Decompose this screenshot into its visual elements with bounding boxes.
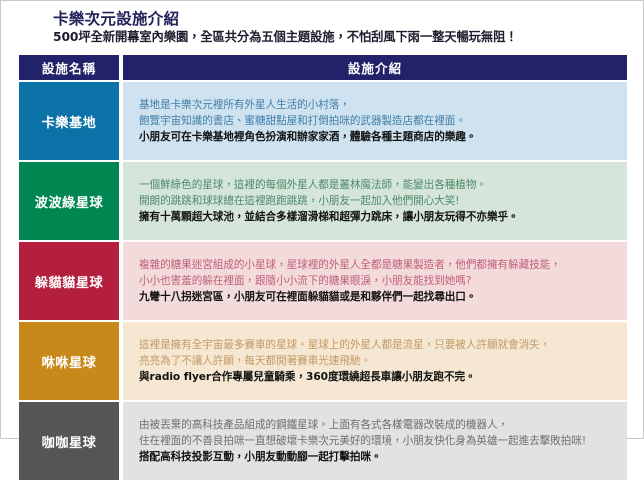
page-title: 卡樂次元設施介紹 bbox=[53, 10, 643, 29]
facility-intro-page: 卡樂次元設施介紹 500坪全新開幕室內樂園，全區共分為五個主題設施，不怕刮風下雨… bbox=[0, 0, 644, 439]
description-line: 一個鮮綠色的星球，這裡的每個外星人都是叢林魔法師，能變出各種植物。 bbox=[139, 177, 627, 193]
facility-description-cell: 這裡是擁有全宇宙最多賽車的星球。星球上的外星人都是流星，只要被人許願就會消失，亮… bbox=[123, 322, 627, 400]
description-line: 擁有十萬顆超大球池，並結合多樣溜滑梯和超彈力跳床，讓小朋友玩得不亦樂乎。 bbox=[139, 209, 627, 225]
facility-name-cell: 波波綠星球 bbox=[19, 162, 119, 240]
description-line: 亮亮為了不讓人許願，每天都開著賽車光速飛馳。 bbox=[139, 353, 627, 369]
facility-description-cell: 由被丟棄的高科技產品組成的鋼鐵星球。上面有各式各樣電器改裝成的機器人，住在裡面的… bbox=[123, 402, 627, 480]
facility-description-cell: 基地是卡樂次元裡所有外星人生活的小村落，飽覽宇宙知識的書店、蜜糖甜點屋和打倒拍咪… bbox=[123, 82, 627, 160]
description-line: 由被丟棄的高科技產品組成的鋼鐵星球。上面有各式各樣電器改裝成的機器人， bbox=[139, 417, 627, 433]
facility-name-cell: 卡樂基地 bbox=[19, 82, 119, 160]
description-line: 這裡是擁有全宇宙最多賽車的星球。星球上的外星人都是流星，只要被人許願就會消失， bbox=[139, 337, 627, 353]
description-line: 與radio flyer合作專屬兒童騎乘，360度環繞超長車讓小朋友跑不完。 bbox=[139, 369, 627, 385]
facility-name-cell: 咖咖星球 bbox=[19, 402, 119, 480]
table-row: 咖咖星球由被丟棄的高科技產品組成的鋼鐵星球。上面有各式各樣電器改裝成的機器人，住… bbox=[19, 402, 627, 480]
table-row: 卡樂基地基地是卡樂次元裡所有外星人生活的小村落，飽覽宇宙知識的書店、蜜糖甜點屋和… bbox=[19, 82, 627, 160]
table-header: 設施名稱 設施介紹 bbox=[19, 55, 627, 80]
description-line: 開朗的跳跳和球球總在這裡跑跑跳跳，小朋友一起加入他們開心大笑! bbox=[139, 193, 627, 209]
page-subtitle: 500坪全新開幕室內樂園，全區共分為五個主題設施，不怕刮風下雨一整天暢玩無阻！ bbox=[53, 30, 643, 46]
facility-table-wrapper: 設施名稱 設施介紹 卡樂基地基地是卡樂次元裡所有外星人生活的小村落，飽覽宇宙知識… bbox=[1, 52, 643, 482]
description-line: 複雜的糖果迷宮組成的小星球，星球裡的外星人全都是糖果製造者，他們都擁有躲藏技能， bbox=[139, 257, 627, 273]
description-line: 搭配高科技投影互動，小朋友動動腳一起打擊拍咪。 bbox=[139, 449, 627, 465]
table-row: 波波綠星球一個鮮綠色的星球，這裡的每個外星人都是叢林魔法師，能變出各種植物。開朗… bbox=[19, 162, 627, 240]
column-header-description: 設施介紹 bbox=[123, 55, 627, 80]
description-line: 基地是卡樂次元裡所有外星人生活的小村落， bbox=[139, 97, 627, 113]
description-line: 九彎十八拐迷宮區，小朋友可在裡面躲貓貓或是和夥伴們一起找尋出口。 bbox=[139, 289, 627, 305]
table-row: 躲貓貓星球複雜的糖果迷宮組成的小星球，星球裡的外星人全都是糖果製造者，他們都擁有… bbox=[19, 242, 627, 320]
page-header: 卡樂次元設施介紹 500坪全新開幕室內樂園，全區共分為五個主題設施，不怕刮風下雨… bbox=[1, 1, 643, 52]
facility-description-cell: 一個鮮綠色的星球，這裡的每個外星人都是叢林魔法師，能變出各種植物。開朗的跳跳和球… bbox=[123, 162, 627, 240]
facility-description-cell: 複雜的糖果迷宮組成的小星球，星球裡的外星人全都是糖果製造者，他們都擁有躲藏技能，… bbox=[123, 242, 627, 320]
description-line: 住在裡面的不善良拍咪一直想破壞卡樂次元美好的環境，小朋友快化身為英雄一起進去擊敗… bbox=[139, 433, 627, 449]
facility-name-cell: 躲貓貓星球 bbox=[19, 242, 119, 320]
description-line: 小小也害羞的躲在裡面，跟隨小小流下的糖果眼淚，小朋友能找到她嗎? bbox=[139, 273, 627, 289]
column-header-name: 設施名稱 bbox=[19, 55, 119, 80]
facility-table: 設施名稱 設施介紹 卡樂基地基地是卡樂次元裡所有外星人生活的小村落，飽覽宇宙知識… bbox=[19, 53, 627, 482]
facility-name-cell: 咻咻星球 bbox=[19, 322, 119, 400]
table-header-row: 設施名稱 設施介紹 bbox=[19, 55, 627, 80]
description-line: 飽覽宇宙知識的書店、蜜糖甜點屋和打倒拍咪的武器製造店都在裡面。 bbox=[139, 113, 627, 129]
description-line: 小朋友可在卡樂基地裡角色扮演和辦家家酒，體驗各種主題商店的樂趣。 bbox=[139, 129, 627, 145]
table-body: 卡樂基地基地是卡樂次元裡所有外星人生活的小村落，飽覽宇宙知識的書店、蜜糖甜點屋和… bbox=[19, 82, 627, 480]
table-row: 咻咻星球這裡是擁有全宇宙最多賽車的星球。星球上的外星人都是流星，只要被人許願就會… bbox=[19, 322, 627, 400]
